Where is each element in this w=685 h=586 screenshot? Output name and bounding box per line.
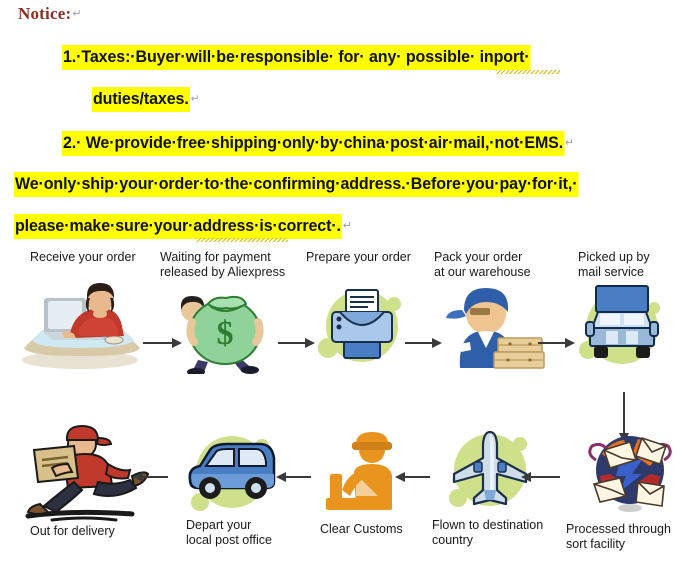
- flow-arrow-6-7: [530, 476, 560, 478]
- flow-step-pack-order-label: Pack your order at our warehouse: [434, 250, 584, 280]
- flow-arrow-9-10: [142, 476, 168, 478]
- flow-step-sort-facility-label-line-1: Processed through: [566, 522, 685, 537]
- flow-row-top: Receive your order: [0, 250, 685, 418]
- spellcheck-underline-correct: [196, 238, 288, 242]
- person-at-computer-icon: [18, 278, 153, 378]
- paragraph-mark-icon: ↵: [342, 220, 352, 232]
- paragraph-mark-icon: ↵: [71, 8, 81, 20]
- spellcheck-underline-inport: [496, 70, 560, 74]
- shipping-process-flow-diagram: Receive your order: [0, 250, 685, 586]
- flow-step-picked-up-label: Picked up by mail service: [578, 250, 685, 280]
- flow-step-out-for-delivery-label: Out for delivery: [30, 524, 180, 539]
- flow-step-pack-order-label-line-1: Pack your order: [434, 250, 584, 265]
- flow-step-receive-order-label: Receive your order: [30, 250, 180, 265]
- flow-step-flown-to-destination-label: Flown to destination country: [432, 518, 582, 548]
- notice-line-1: 1.·Taxes:·Buyer·will·be·responsible· for…: [62, 49, 531, 66]
- notice-line-2-text: duties/taxes.: [92, 87, 190, 112]
- notice-line-4-text: We·only·ship·your·order·to·the·confirmin…: [14, 172, 578, 197]
- flow-step-waiting-payment-label-line-2: released by Aliexpress: [160, 265, 310, 280]
- notice-line-2: duties/taxes.↵: [92, 91, 199, 108]
- notice-line-5-text: please·make·sure·your·address·is·correct…: [14, 214, 342, 239]
- warehouse-worker-icon: [440, 280, 548, 375]
- notice-line-5: please·make·sure·your·address·is·correct…: [14, 218, 352, 235]
- notice-text-block: Notice:↵ 1.·Taxes:·Buyer·will·be·respons…: [0, 0, 685, 246]
- flow-step-pack-order-label-line-2: at our warehouse: [434, 265, 584, 280]
- printer-icon: [314, 278, 410, 375]
- flow-arrow-1-2: [143, 342, 173, 344]
- flow-step-depart-post-office-label: Depart your local post office: [186, 518, 326, 548]
- flow-step-waiting-payment-label-line-1: Waiting for payment: [160, 250, 310, 265]
- flow-step-depart-post-office-label-line-1: Depart your: [186, 518, 326, 533]
- notice-line-4: We·only·ship·your·order·to·the·confirmin…: [14, 176, 578, 193]
- flow-step-flown-to-destination-label-line-2: country: [432, 533, 582, 548]
- flow-step-picked-up-label-line-1: Picked up by: [578, 250, 685, 265]
- notice-line-1-text: 1.·Taxes:·Buyer·will·be·responsible· for…: [62, 45, 531, 70]
- flow-arrow-2-3: [278, 342, 306, 344]
- sort-facility-globe-icon: [580, 420, 680, 525]
- notice-line-3: 2.· We·provide·free·shipping·only·by·chi…: [62, 135, 574, 152]
- flow-arrow-7-8: [404, 476, 430, 478]
- flow-arrow-8-9: [285, 476, 311, 478]
- paragraph-mark-icon: ↵: [564, 137, 574, 149]
- mail-truck-icon: [572, 278, 672, 377]
- paragraph-mark-icon: ↵: [190, 93, 200, 105]
- flow-step-sort-facility-label-line-2: sort facility: [566, 537, 685, 552]
- flow-step-waiting-payment-label: Waiting for payment released by Aliexpre…: [160, 250, 310, 280]
- flow-step-depart-post-office-label-line-2: local post office: [186, 533, 326, 548]
- svg-text:$: $: [217, 315, 234, 352]
- delivery-van-icon: [176, 424, 288, 525]
- flow-arrow-4-5: [538, 342, 566, 344]
- flow-step-flown-to-destination-label-line-1: Flown to destination: [432, 518, 582, 533]
- flow-arrow-3-4: [405, 342, 433, 344]
- money-bag-icon: $: [170, 282, 280, 379]
- notice-line-3-text: 2.· We·provide·free·shipping·only·by·chi…: [62, 131, 564, 156]
- notice-title-text: Notice:: [18, 4, 71, 23]
- flow-step-sort-facility-label: Processed through sort facility: [566, 522, 685, 552]
- notice-title: Notice:↵: [18, 4, 82, 24]
- flow-row-bottom: Out for delivery: [0, 418, 685, 586]
